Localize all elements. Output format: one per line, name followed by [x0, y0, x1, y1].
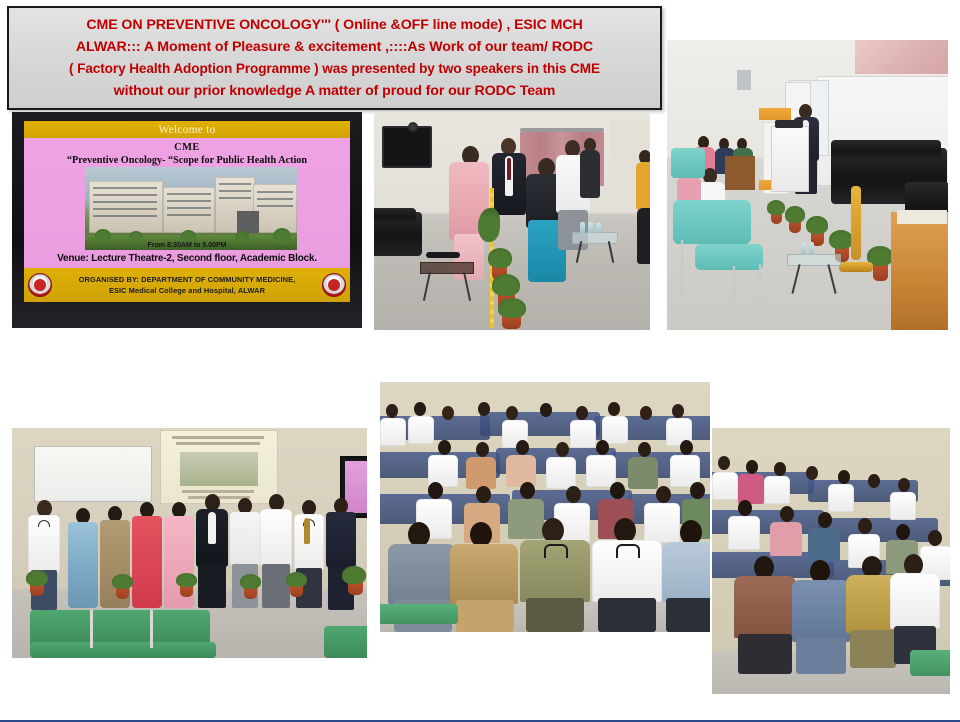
- lamp-lighting-ceremony-photo: [374, 112, 650, 330]
- slide-event-name: CME: [24, 142, 350, 153]
- cme-welcome-slide-photo: Welcome to CME “Preventive Oncology- “Sc…: [12, 112, 362, 328]
- slide-welcome-text: Welcome to: [159, 124, 216, 136]
- slide-organiser-line-2: ESIC Medical College and Hospital, ALWAR: [109, 285, 265, 296]
- faculty-group-photo: [12, 428, 367, 658]
- speaker-at-podium-photo: [667, 40, 948, 330]
- title-line-4: without our prior knowledge A matter of …: [114, 80, 556, 102]
- audience-side-view-photo: [712, 428, 950, 694]
- slide-header-band: Welcome to: [24, 121, 350, 138]
- esic-logo-left-icon: [28, 273, 52, 297]
- title-banner: CME ON PREVENTIVE ONCOLOGY''' ( Online &…: [7, 6, 662, 110]
- slide-organiser-line-1: ORGANISED BY: DEPARTMENT OF COMMUNITY ME…: [79, 274, 296, 285]
- slide-venue: Venue: Lecture Theatre-2, Second floor, …: [24, 253, 350, 264]
- projected-slide: Welcome to CME “Preventive Oncology- “Sc…: [24, 121, 350, 302]
- slide-footer-band: ORGANISED BY: DEPARTMENT OF COMMUNITY ME…: [24, 268, 350, 302]
- esic-logo-right-icon: [322, 273, 346, 297]
- slide-body: CME “Preventive Oncology- “Scope for Pub…: [24, 138, 350, 268]
- audience-front-rows-photo: [380, 382, 710, 632]
- title-line-1: CME ON PREVENTIVE ONCOLOGY''' ( Online &…: [86, 14, 582, 36]
- title-line-2: ALWAR::: A Moment of Pleasure & exciteme…: [76, 36, 593, 58]
- hospital-building-image: [85, 167, 297, 250]
- title-line-3: ( Factory Health Adoption Programme ) wa…: [69, 58, 600, 80]
- presentation-slide: CME ON PREVENTIVE ONCOLOGY''' ( Online &…: [0, 0, 960, 722]
- slide-topic: “Preventive Oncology- “Scope for Public …: [24, 155, 350, 166]
- slide-timing: From 8:30AM to 5.00PM: [24, 242, 350, 249]
